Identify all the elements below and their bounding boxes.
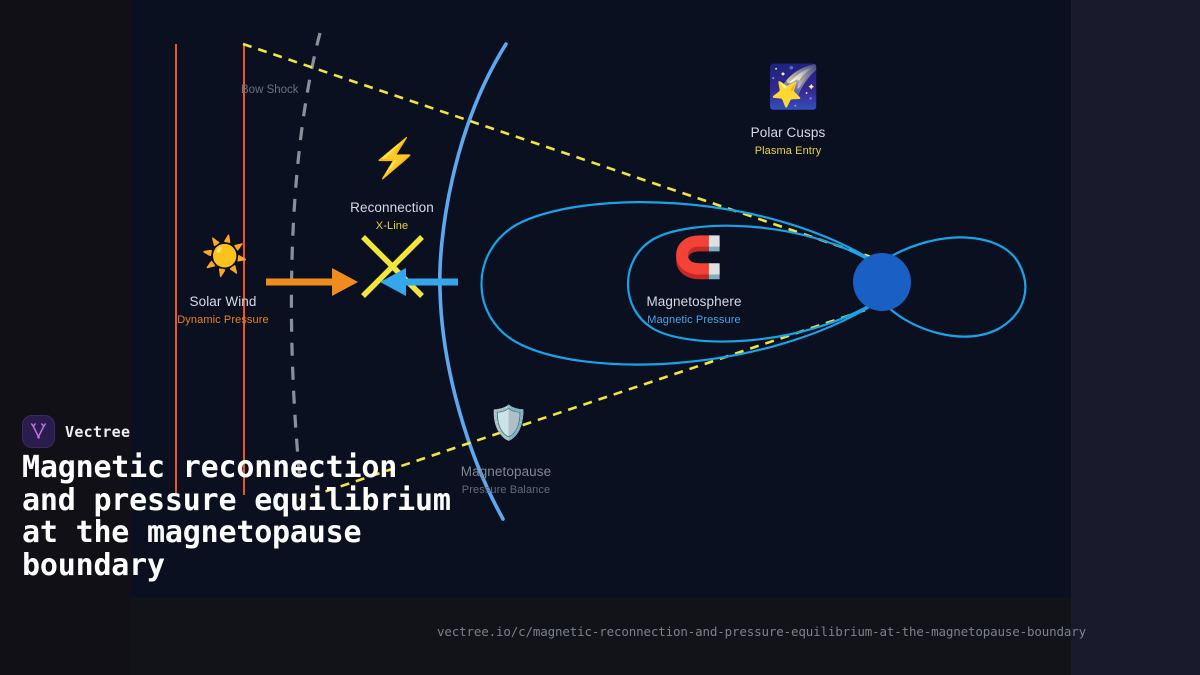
solar-wind-flow-arrow — [266, 268, 358, 296]
magnetopause-subtitle: Pressure Balance — [461, 484, 552, 496]
magnet-emoji: 🧲 — [673, 238, 717, 278]
reconnection-subtitle: X-Line — [350, 220, 434, 232]
node-label-magnetosphere: Magnetosphere Magnetic Pressure — [646, 294, 741, 326]
earth-body — [853, 253, 911, 311]
magnetosphere-subtitle: Magnetic Pressure — [646, 314, 741, 326]
vectree-logo-icon — [22, 415, 55, 448]
lightning-bolt-emoji: ⚡ — [371, 140, 415, 178]
shield-emoji: 🛡️ — [488, 406, 526, 439]
page-title: Magnetic reconnection and pressure equil… — [22, 452, 452, 582]
shooting-star-emoji: 🌠 — [767, 66, 811, 108]
solar-wind-subtitle: Dynamic Pressure — [177, 314, 268, 326]
brand-block: Vectree — [22, 415, 130, 448]
solar-wind-title: Solar Wind — [177, 294, 268, 309]
node-label-magnetopause: Magnetopause Pressure Balance — [461, 464, 552, 496]
screenshot-canvas: ☀️ ⚡ 🌠 🧲 🛡️ Bow Shock Solar Wind Dynamic… — [0, 0, 1200, 675]
sun-emoji: ☀️ — [201, 238, 245, 276]
source-url: vectree.io/c/magnetic-reconnection-and-p… — [437, 624, 1086, 639]
magnetopause-title: Magnetopause — [461, 464, 552, 479]
polar-cusps-subtitle: Plasma Entry — [751, 145, 826, 157]
node-label-reconnection: Reconnection X-Line — [350, 200, 434, 232]
node-label-solar-wind: Solar Wind Dynamic Pressure — [177, 294, 268, 326]
reconnection-title: Reconnection — [350, 200, 434, 215]
bow-shock-label: Bow Shock — [241, 84, 299, 96]
magnetic-field-lines — [482, 202, 1026, 364]
bow-shock-curve — [291, 33, 320, 480]
node-label-polar-cusps: Polar Cusps Plasma Entry — [751, 125, 826, 157]
brand-name: Vectree — [65, 423, 130, 441]
polar-cusps-title: Polar Cusps — [751, 125, 826, 140]
magnetosphere-title: Magnetosphere — [646, 294, 741, 309]
